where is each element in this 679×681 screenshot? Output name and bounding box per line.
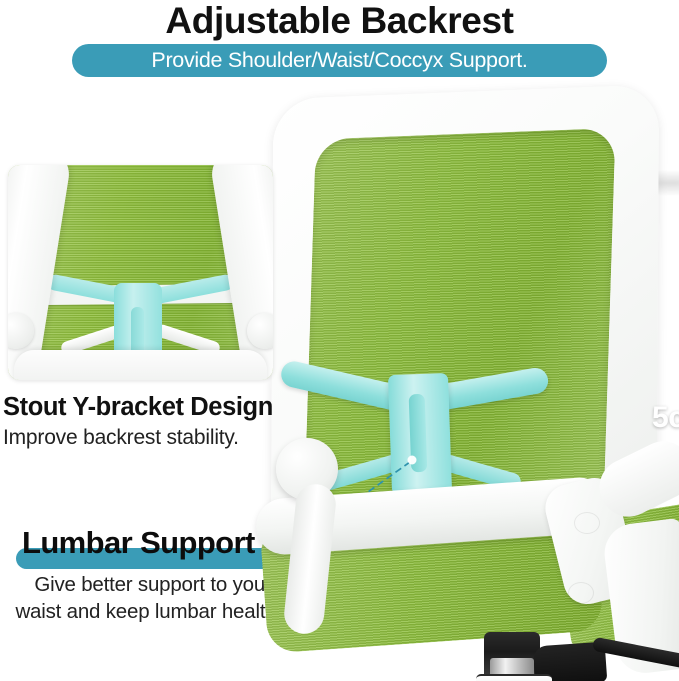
- product-infographic: Adjustable Backrest Provide Shoulder/Wai…: [0, 0, 679, 681]
- lumbar-description: Give better support to your waist and ke…: [0, 571, 306, 625]
- lumbar-description-line-2: waist and keep lumbar healthy.: [15, 600, 290, 623]
- inset-seat-pan: [14, 350, 267, 380]
- lumbar-headline: Lumbar Support: [22, 524, 255, 562]
- lumbar-support-callout: Lumbar Support: [16, 524, 294, 568]
- frame-dimple-lower: [568, 582, 594, 604]
- subtitle-banner: Provide Shoulder/Waist/Coccyx Support.: [72, 44, 607, 77]
- lumbar-bracket-stem: [388, 373, 452, 495]
- frame-dimple-upper: [574, 512, 600, 534]
- backrest-mesh-panel: [304, 128, 615, 500]
- y-bracket-headline: Stout Y-bracket Design: [3, 392, 273, 422]
- y-bracket-closeup-photo: [8, 165, 273, 380]
- chair-product-image: 5cm/2inch: [262, 92, 679, 681]
- gas-cylinder-collar: [476, 674, 552, 681]
- y-bracket-description: Improve backrest stability.: [3, 425, 239, 451]
- adjustment-range-label: 5cm/2inch: [652, 400, 679, 436]
- lumbar-description-line-1: Give better support to your: [34, 573, 271, 596]
- page-title: Adjustable Backrest: [0, 1, 679, 41]
